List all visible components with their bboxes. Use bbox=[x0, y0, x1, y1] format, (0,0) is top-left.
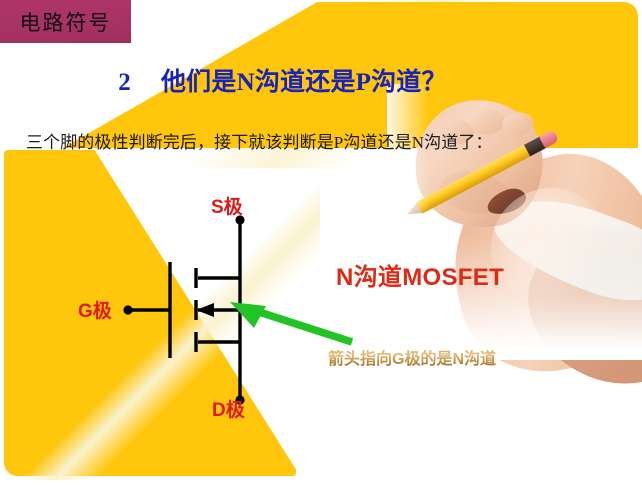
device-name-label: N沟道MOSFET bbox=[336, 257, 504, 292]
channel-direction-arrowhead bbox=[196, 303, 214, 317]
knuckle-3 bbox=[500, 110, 535, 138]
subtitle-text: 三个脚的极性判断完后，接下就该判断是P沟道还是N沟道了： bbox=[26, 128, 493, 153]
label-source: S极 bbox=[211, 192, 243, 219]
corner-badge-label: 电路符号 bbox=[20, 7, 112, 37]
page-title: 2他们是N沟道还是P沟道？ bbox=[0, 62, 565, 98]
page-title-number: 2 bbox=[118, 69, 131, 96]
gate-terminal-dot bbox=[123, 305, 132, 314]
slide-canvas: 电路符号 2他们是N沟道还是P沟道？ 三个脚的极性判断完后，接下就该判断是P沟道… bbox=[0, 0, 642, 486]
explanation-caption: 箭头指向G极的是N沟道 bbox=[328, 345, 496, 369]
label-drain: D极 bbox=[212, 395, 245, 422]
page-title-question: 他们是N沟道还是P沟道？ bbox=[161, 69, 447, 96]
green-pointer-arrow bbox=[220, 292, 360, 352]
label-gate: G极 bbox=[78, 296, 112, 323]
skin-highlight bbox=[491, 188, 611, 308]
corner-badge: 电路符号 bbox=[0, 0, 131, 43]
